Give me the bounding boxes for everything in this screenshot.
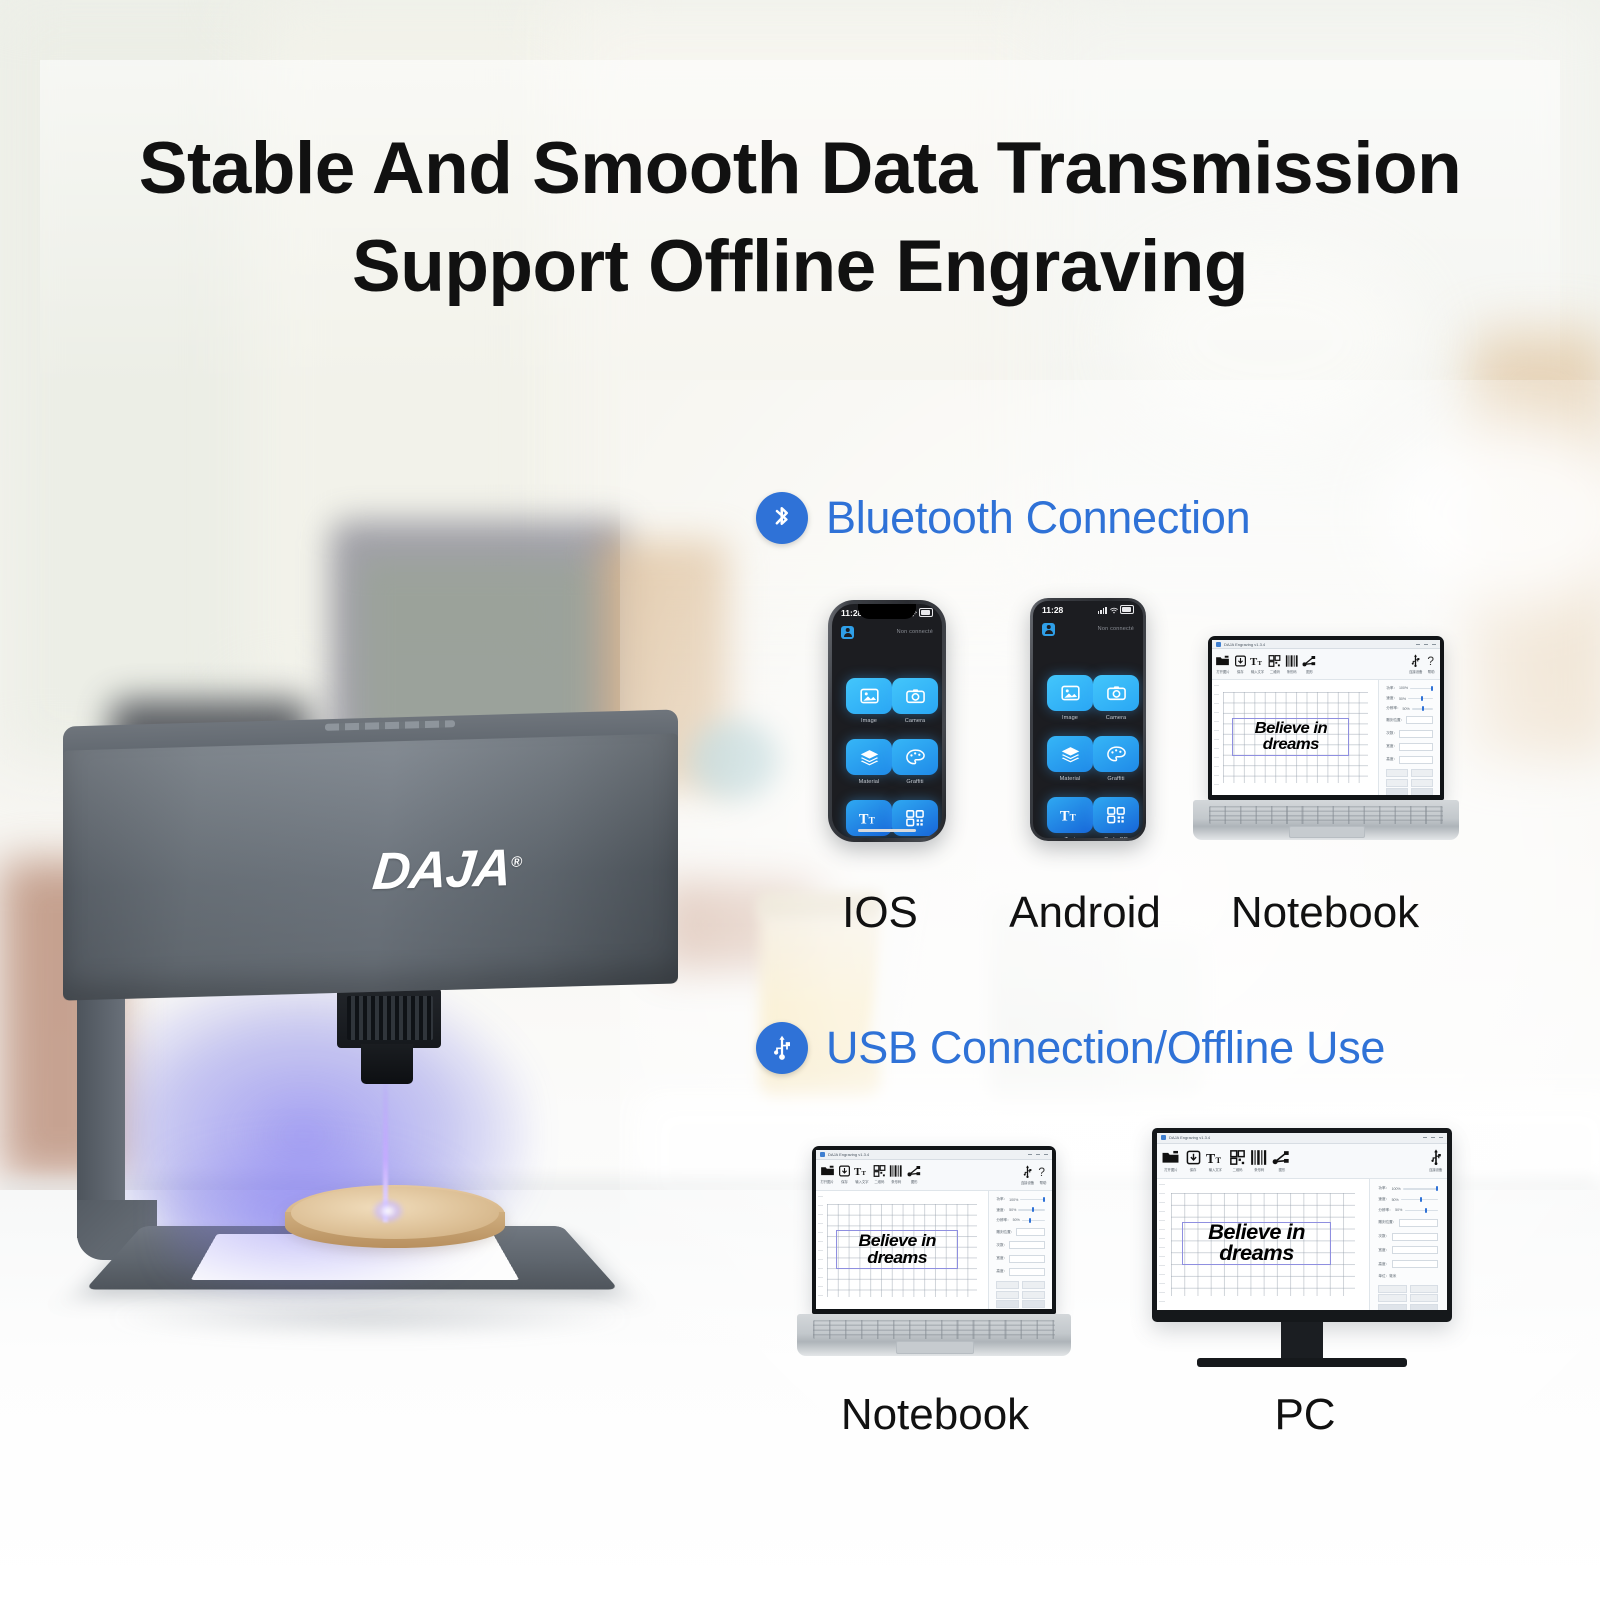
panel-button[interactable] (1022, 1291, 1045, 1299)
panel-label: 宽度： (1386, 744, 1397, 749)
height-field[interactable] (1009, 1268, 1045, 1276)
panel-value: 50% (1399, 697, 1406, 701)
artwork-line-2: dreams (1254, 737, 1326, 753)
monitor-neck (1281, 1322, 1323, 1362)
product-banner: Stable And Smooth Data Transmission Supp… (0, 0, 1600, 1600)
tile-image[interactable]: Image (846, 678, 892, 724)
notebook-lid: DAJA Engraving v1.3.4 打开图片 (812, 1146, 1056, 1314)
tile-label-camera: Camera (1093, 715, 1139, 721)
panel-label: 次数： (996, 1243, 1007, 1248)
machine-body-shading (63, 733, 678, 1000)
panel-label: 速度： (1386, 696, 1397, 701)
toolbar-label: 输入文字 (1251, 669, 1264, 674)
device-phone-android[interactable]: 11:28 Non connecté (1030, 598, 1146, 841)
panel-button[interactable] (1378, 1304, 1406, 1310)
panel-value: 50% (1403, 707, 1410, 711)
tile-label-material: Material (846, 779, 892, 785)
label-notebook-top: Notebook (1205, 888, 1445, 938)
bluetooth-icon (756, 492, 808, 544)
panel-row-height[interactable]: 高度： (1378, 1260, 1438, 1268)
share-icon (907, 1165, 922, 1177)
toolbar-label: 打开图片 (1164, 1167, 1177, 1172)
tile-graffiti[interactable]: Graffiti (1093, 736, 1139, 782)
text-tool-icon: TT (1206, 1150, 1225, 1165)
page-title: Stable And Smooth Data Transmission Supp… (0, 120, 1600, 316)
panel-button[interactable] (1411, 779, 1433, 787)
help-icon: ? (1426, 654, 1437, 667)
panel-button[interactable] (1378, 1294, 1406, 1302)
tile-text[interactable]: T T Text (846, 800, 892, 838)
tile-image[interactable]: Image (1047, 675, 1093, 721)
panel-button[interactable] (1022, 1281, 1045, 1289)
panel-row-position[interactable]: 雕刻位置： (996, 1228, 1045, 1236)
label-notebook-bottom: Notebook (810, 1390, 1060, 1440)
artwork-line-1: Believe in (858, 1232, 935, 1249)
tile-camera[interactable]: Camera (892, 678, 938, 724)
notebook-lid: DAJA Engraving v1.3.4 打开图片 (1208, 636, 1444, 800)
window-controls[interactable] (1416, 644, 1436, 645)
daja-brand-logo: DAJA® (370, 838, 524, 902)
notebook-trackpad[interactable] (1289, 826, 1365, 838)
panel-label: 高度： (996, 1269, 1007, 1274)
power-slider[interactable] (1410, 688, 1433, 690)
qrcode-tool-icon (1268, 655, 1281, 667)
title-line-2: Support Offline Engraving (0, 218, 1600, 316)
resolution-slider[interactable] (1405, 1210, 1439, 1212)
panel-button-grid (996, 1281, 1045, 1309)
toolbar-text[interactable]: TT 输入文字 (1250, 655, 1265, 674)
panel-label: 分辨率： (1378, 1208, 1392, 1213)
usb-icon (756, 1022, 808, 1074)
panel-label: 次数： (1378, 1234, 1389, 1239)
device-phone-ios[interactable]: 11:28 Non connecté (828, 600, 946, 842)
battery-icon (1120, 605, 1134, 614)
tile-label-image: Image (846, 718, 892, 724)
trademark-symbol: ® (510, 854, 522, 871)
canvas-area[interactable]: Believe in dreams (816, 1191, 988, 1309)
canvas-area[interactable]: Believe in dreams (1212, 680, 1378, 795)
panel-label: 次数： (1386, 731, 1397, 736)
power-slider[interactable] (1020, 1199, 1045, 1201)
count-field[interactable] (1399, 730, 1433, 738)
position-field[interactable] (1406, 716, 1433, 724)
toolbar-barcode[interactable]: 条形码 (1250, 1150, 1268, 1172)
status-clock: 11:28 (1042, 605, 1063, 615)
section-heading-bluetooth: Bluetooth Connection (756, 492, 1250, 544)
phone-android-tile-grid: Image Camera (1033, 675, 1143, 838)
panel-value: 100% (1392, 1187, 1401, 1191)
section-heading-usb: USB Connection/Offline Use (756, 1022, 1385, 1074)
panel-label: 功率： (1386, 686, 1397, 691)
panel-value: 50% (1009, 1208, 1016, 1212)
laser-nozzle (361, 1044, 413, 1084)
panel-value: 50% (1013, 1218, 1020, 1222)
panel-button[interactable] (996, 1281, 1019, 1289)
barcode-icon (1250, 1150, 1268, 1165)
panel-row-count[interactable]: 次数： (1378, 1233, 1438, 1241)
toolbar-label: 条形码 (1287, 669, 1297, 674)
width-field[interactable] (1009, 1255, 1045, 1263)
canvas-grid: Believe in dreams (1171, 1193, 1355, 1296)
panel-value: 50% (1395, 1208, 1402, 1212)
user-avatar-icon[interactable] (841, 626, 854, 639)
count-field[interactable] (1392, 1233, 1439, 1241)
speed-slider[interactable] (1408, 698, 1433, 700)
toolbar-help[interactable]: ? 帮助 (1426, 654, 1437, 674)
panel-label: 分辨率： (996, 1218, 1010, 1223)
usb-device-icon (1429, 1149, 1443, 1165)
layers-icon (846, 739, 892, 775)
notebook-base (1193, 800, 1458, 840)
tile-graffiti[interactable]: Graffiti (892, 739, 938, 785)
panel-button[interactable] (1386, 779, 1408, 787)
toolbar-label: 保存 (1190, 1167, 1197, 1172)
toolbar-shape[interactable]: 图形 (1272, 1150, 1291, 1172)
panel-row-power[interactable]: 功率： 100% (1378, 1186, 1438, 1191)
panel-label: 宽度： (1378, 1248, 1389, 1253)
text-icon: T T (1047, 797, 1093, 833)
svg-text:T: T (862, 1171, 867, 1178)
panel-label: 高度： (1386, 757, 1397, 762)
device-notebook-usb[interactable]: DAJA Engraving v1.3.4 打开图片 (812, 1146, 1056, 1360)
software-window: DAJA Engraving v1.3.4 打开图片 (816, 1150, 1052, 1309)
panel-label: 功率： (1378, 1186, 1389, 1191)
properties-panel: 功率： 100% 速度： 50% 分辨率： 50% (988, 1191, 1052, 1309)
signal-icon (1098, 607, 1107, 614)
section-label-usb: USB Connection/Offline Use (826, 1022, 1385, 1074)
tile-label-camera: Camera (892, 718, 938, 724)
window-controls[interactable] (1423, 1137, 1443, 1138)
toolbar-qrcode[interactable]: 二维码 (1229, 1150, 1246, 1172)
speed-slider[interactable] (1018, 1209, 1045, 1211)
panel-row-resolution[interactable]: 分辨率： 50% (1386, 706, 1433, 711)
artwork-text: Believe in dreams (858, 1232, 935, 1266)
toolbar-save[interactable]: 保存 (1234, 655, 1247, 674)
bg-white-veil (620, 380, 1600, 1500)
toolbar-text[interactable]: TT 输入文字 (854, 1165, 869, 1184)
panel-row-height[interactable]: 高度： (1386, 756, 1433, 764)
toolbar-label: 条形码 (1254, 1167, 1264, 1172)
device-pc-monitor[interactable]: DAJA Engraving v1.3.4 打开图片 (1152, 1128, 1452, 1368)
panel-label: 雕刻位置： (1386, 718, 1404, 723)
image-icon (846, 678, 892, 714)
panel-value: 100% (1399, 686, 1408, 690)
palette-icon (892, 739, 938, 775)
share-icon (1302, 655, 1317, 667)
properties-panel: 功率： 100% 速度： 50% 分辨率： 50% (1378, 680, 1440, 795)
toolbar-open-image[interactable]: 打开图片 (1215, 655, 1230, 674)
power-slider[interactable] (1403, 1188, 1438, 1190)
panel-label: 宽度： (996, 1256, 1007, 1261)
panel-label: 雕刻位置： (996, 1230, 1014, 1235)
panel-row-count[interactable]: 次数： (996, 1241, 1045, 1249)
panel-row-count[interactable]: 次数： (1386, 730, 1433, 738)
software-window-title: DAJA Engraving v1.3.4 (1224, 642, 1265, 647)
svg-text:?: ? (1427, 654, 1434, 667)
svg-text:T: T (1258, 660, 1263, 667)
panel-button[interactable] (1386, 769, 1408, 777)
panel-row-speed[interactable]: 速度： 50% (1386, 696, 1433, 701)
properties-panel: 功率： 100% 速度： 50% 分辨率： 50% (1369, 1179, 1447, 1310)
phone-android-statusbar: 11:28 (1033, 601, 1143, 618)
ruler-vertical (1214, 685, 1219, 791)
panel-button[interactable] (996, 1291, 1019, 1299)
window-controls[interactable] (1028, 1154, 1048, 1155)
artwork-line-1: Believe in (1208, 1222, 1305, 1243)
toolbar-label: 条形码 (891, 1179, 901, 1184)
laser-head-heatsink (347, 996, 433, 1040)
qrcode-tool-icon (873, 1165, 886, 1177)
toolbar-open-image[interactable]: 打开图片 (1161, 1150, 1180, 1172)
share-icon (1272, 1150, 1291, 1165)
height-field[interactable] (1399, 756, 1433, 764)
panel-label: 功率： (996, 1197, 1007, 1202)
tile-material[interactable]: Material (1047, 736, 1093, 782)
panel-button[interactable] (1410, 1285, 1438, 1293)
notebook-keyboard[interactable] (813, 1320, 1054, 1339)
toolbar-label: 保存 (1237, 669, 1244, 674)
tile-label-material: Material (1047, 776, 1093, 782)
panel-row-position[interactable]: 雕刻位置： (1378, 1219, 1438, 1227)
panel-row-resolution[interactable]: 分辨率： 50% (996, 1218, 1045, 1223)
toolbar-shape[interactable]: 图形 (907, 1165, 922, 1184)
toolbar-label: 连接设备 (1409, 669, 1422, 674)
label-pc: PC (1180, 1390, 1430, 1440)
phone-android-screen: 11:28 Non connecté (1033, 601, 1143, 838)
svg-text:?: ? (1039, 1165, 1046, 1178)
toolbar-label: 二维码 (1270, 669, 1280, 674)
qrcode-tool-icon (1229, 1150, 1246, 1165)
height-field[interactable] (1392, 1260, 1439, 1268)
panel-row-height[interactable]: 高度： (996, 1268, 1045, 1276)
width-field[interactable] (1392, 1246, 1439, 1254)
toolbar-qrcode[interactable]: 二维码 (1268, 655, 1281, 674)
tile-label-graffiti: Graffiti (1093, 776, 1139, 782)
title-line-1: Stable And Smooth Data Transmission (139, 128, 1461, 209)
layers-icon (1047, 736, 1093, 772)
panel-label: 速度： (996, 1208, 1007, 1213)
toolbar-help[interactable]: ? 帮助 (1037, 1165, 1048, 1185)
toolbar-label: 保存 (841, 1179, 848, 1184)
notebook-screen: DAJA Engraving v1.3.4 打开图片 (816, 1150, 1052, 1309)
panel-label: 高度： (1378, 1262, 1389, 1267)
software-window-title: DAJA Engraving v1.3.4 (1169, 1135, 1210, 1140)
tile-label-qrcode: Code QR (1093, 837, 1139, 838)
panel-button[interactable] (996, 1300, 1019, 1308)
software-titlebar: DAJA Engraving v1.3.4 (816, 1150, 1052, 1160)
panel-label: 速度： (1378, 1197, 1389, 1202)
toolbar-connect-device[interactable]: 连接设备 (1021, 1165, 1034, 1185)
phone-notch (858, 604, 916, 619)
panel-button-grid (1386, 769, 1433, 795)
software-titlebar: DAJA Engraving v1.3.4 (1212, 640, 1440, 649)
help-icon: ? (1037, 1165, 1048, 1178)
toolbar-label: 图形 (911, 1179, 918, 1184)
app-logo-icon (1161, 1135, 1166, 1140)
toolbar-label: 输入文字 (1209, 1167, 1222, 1172)
panel-button[interactable] (1411, 769, 1433, 777)
toolbar-label: 连接设备 (1021, 1180, 1034, 1185)
panel-note-row: 单位：毫米 (1378, 1274, 1438, 1279)
svg-text:T: T (1060, 808, 1070, 824)
panel-row-resolution[interactable]: 分辨率： 50% (1378, 1208, 1438, 1213)
notebook-base (797, 1314, 1071, 1356)
panel-button[interactable] (1378, 1285, 1406, 1293)
camera-icon (1093, 675, 1139, 711)
phone-ios-screen: 11:28 Non connecté (832, 604, 942, 838)
panel-button[interactable] (1410, 1304, 1438, 1310)
notebook-screen: DAJA Engraving v1.3.4 打开图片 (1212, 640, 1440, 795)
monitor-screen: DAJA Engraving v1.3.4 打开图片 (1157, 1133, 1447, 1310)
toolbar-barcode[interactable]: 条形码 (1285, 655, 1299, 674)
artwork-selection-box[interactable]: Believe in dreams (836, 1230, 958, 1269)
camera-icon (892, 678, 938, 714)
toolbar-label: 图形 (1306, 669, 1313, 674)
text-tool-icon: TT (854, 1165, 869, 1177)
monitor-frame: DAJA Engraving v1.3.4 打开图片 (1152, 1128, 1452, 1322)
panel-row-width[interactable]: 宽度： (1378, 1246, 1438, 1254)
label-ios: IOS (800, 888, 960, 938)
position-field[interactable] (1016, 1228, 1045, 1236)
toolbar-qrcode[interactable]: 二维码 (873, 1165, 886, 1184)
phone-ios-appheader: Non connecté (832, 623, 942, 641)
barcode-icon (889, 1165, 903, 1177)
palette-icon (1093, 736, 1139, 772)
toolbar-save[interactable]: 保存 (838, 1165, 851, 1184)
toolbar-shape[interactable]: 图形 (1302, 655, 1317, 674)
toolbar-connect-device[interactable]: 连接设备 (1409, 654, 1422, 674)
panel-row-power[interactable]: 功率： 100% (996, 1197, 1045, 1202)
software-titlebar: DAJA Engraving v1.3.4 (1157, 1133, 1447, 1144)
folder-open-icon (820, 1165, 835, 1177)
artwork-selection-box[interactable]: Believe in dreams (1232, 718, 1350, 756)
software-body: Believe in dreams 功率： 100% (1212, 680, 1440, 795)
artwork-selection-box[interactable]: Believe in dreams (1182, 1222, 1331, 1265)
toolbar-text[interactable]: TT 输入文字 (1206, 1150, 1225, 1172)
device-notebook-bluetooth[interactable]: DAJA Engraving v1.3.4 打开图片 (1208, 636, 1444, 844)
panel-row-speed[interactable]: 速度： 50% (1378, 1197, 1438, 1202)
position-field[interactable] (1399, 1219, 1439, 1227)
panel-row-speed[interactable]: 速度： 50% (996, 1208, 1045, 1213)
svg-text:T: T (869, 817, 876, 827)
download-icon (838, 1165, 851, 1177)
ruler-vertical (818, 1196, 823, 1304)
tile-label-text: Text (1047, 837, 1093, 838)
panel-row-width[interactable]: 宽度： (1386, 743, 1433, 751)
artwork-line-1: Believe in (1254, 721, 1326, 737)
toolbar-label: 连接设备 (1429, 1167, 1442, 1172)
panel-label: 雕刻位置： (1378, 1220, 1396, 1225)
panel-unit-note: 单位：毫米 (1378, 1274, 1396, 1279)
resolution-slider[interactable] (1412, 708, 1434, 710)
toolbar-label: 二维码 (1233, 1167, 1243, 1172)
connection-status-text: Non connecté (1098, 626, 1134, 632)
width-field[interactable] (1399, 743, 1433, 751)
notebook-keyboard[interactable] (1209, 806, 1442, 824)
status-icons (1098, 605, 1134, 614)
svg-text:T: T (1070, 814, 1077, 824)
toolbar-label: 输入文字 (855, 1179, 868, 1184)
image-icon (1047, 675, 1093, 711)
speed-slider[interactable] (1401, 1199, 1438, 1201)
canvas-grid: Believe in dreams (1223, 692, 1368, 783)
user-avatar-icon[interactable] (1042, 623, 1055, 636)
tile-qrcode[interactable]: Code QR (892, 800, 938, 838)
barcode-icon (1285, 655, 1299, 667)
toolbar-label: 二维码 (874, 1179, 884, 1184)
software-body: Believe in dreams 功率： 100% (1157, 1179, 1447, 1310)
toolbar-open-image[interactable]: 打开图片 (820, 1165, 835, 1184)
folder-open-icon (1161, 1150, 1180, 1165)
laser-engraver-machine: DAJA® (55, 700, 705, 1320)
brand-text: DAJA (370, 839, 514, 901)
laser-spot (371, 1198, 405, 1224)
software-toolbar: 打开图片 保存 TT 输入文字 (816, 1160, 1052, 1192)
panel-row-position[interactable]: 雕刻位置： (1386, 716, 1433, 724)
usb-device-icon (1022, 1165, 1033, 1178)
usb-device-icon (1410, 654, 1421, 667)
toolbar-barcode[interactable]: 条形码 (889, 1165, 903, 1184)
phone-ios-tile-grid: Image Camera (832, 678, 942, 838)
notebook-trackpad[interactable] (896, 1341, 975, 1354)
panel-button[interactable] (1022, 1300, 1045, 1308)
panel-row-width[interactable]: 宽度： (996, 1255, 1045, 1263)
tile-qrcode[interactable]: Code QR (1093, 797, 1139, 838)
qrcode-icon (1093, 797, 1139, 833)
panel-button[interactable] (1411, 788, 1433, 795)
tile-camera[interactable]: Camera (1093, 675, 1139, 721)
count-field[interactable] (1009, 1241, 1045, 1249)
panel-button-grid (1378, 1285, 1438, 1310)
phone-home-indicator (858, 829, 916, 832)
app-logo-icon (820, 1152, 825, 1157)
panel-value: 100% (1009, 1198, 1018, 1202)
battery-icon (919, 608, 933, 617)
canvas-area[interactable]: Believe in dreams (1157, 1179, 1369, 1310)
tile-label-image: Image (1047, 715, 1093, 721)
tile-material[interactable]: Material (846, 739, 892, 785)
artwork-line-2: dreams (858, 1249, 935, 1266)
artwork-text: Believe in dreams (1254, 721, 1326, 753)
tile-text[interactable]: T T Text (1047, 797, 1093, 838)
connection-status-text: Non connecté (897, 629, 933, 635)
resolution-slider[interactable] (1022, 1220, 1045, 1222)
section-label-bluetooth: Bluetooth Connection (826, 492, 1250, 544)
ruler-vertical (1159, 1184, 1165, 1305)
wifi-icon (1110, 607, 1118, 614)
artwork-text: Believe in dreams (1208, 1222, 1305, 1264)
panel-button[interactable] (1386, 788, 1408, 795)
app-logo-icon (1216, 642, 1221, 647)
software-window-title: DAJA Engraving v1.3.4 (828, 1152, 869, 1157)
software-toolbar: 打开图片 保存 TT 输入文字 (1157, 1144, 1447, 1179)
artwork-line-2: dreams (1208, 1243, 1305, 1264)
tile-label-graffiti: Graffiti (892, 779, 938, 785)
software-toolbar: 打开图片 保存 TT 输入文字 (1212, 649, 1440, 680)
toolbar-label: 帮助 (1040, 1180, 1047, 1185)
svg-text:T: T (1206, 1151, 1215, 1165)
toolbar-label: 图形 (1279, 1167, 1286, 1172)
panel-row-power[interactable]: 功率： 100% (1386, 686, 1433, 691)
monitor-base (1197, 1358, 1407, 1367)
panel-button[interactable] (1410, 1294, 1438, 1302)
phone-android-appheader: Non connecté (1033, 620, 1143, 638)
toolbar-connect-device[interactable]: 连接设备 (1429, 1149, 1443, 1172)
panel-label: 分辨率： (1386, 706, 1400, 711)
download-icon (1234, 655, 1247, 667)
software-window: DAJA Engraving v1.3.4 打开图片 (1157, 1133, 1447, 1310)
toolbar-save[interactable]: 保存 (1185, 1150, 1202, 1172)
